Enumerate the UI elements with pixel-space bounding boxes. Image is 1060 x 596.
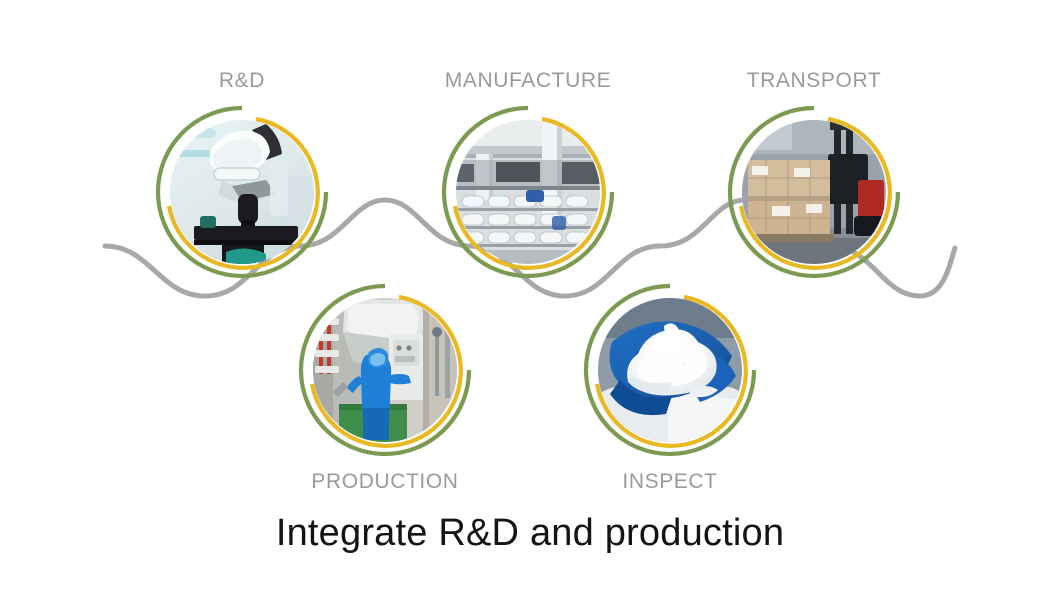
node-circle-rd[interactable] xyxy=(153,103,331,281)
node-label-manufacture: MANUFACTURE xyxy=(428,70,628,91)
node-label-rd: R&D xyxy=(142,70,342,91)
node-label-inspect: INSPECT xyxy=(570,471,770,492)
forklift-photo xyxy=(742,120,886,264)
node-manufacture[interactable]: MANUFACTURE xyxy=(428,70,628,281)
node-inspect[interactable]: INSPECT xyxy=(570,281,770,492)
node-circle-manufacture[interactable] xyxy=(439,103,617,281)
powder-photo xyxy=(598,298,742,442)
page-headline: Integrate R&D and production xyxy=(0,512,1060,556)
microscope-photo xyxy=(170,120,314,264)
node-transport[interactable]: TRANSPORT xyxy=(714,70,914,281)
node-label-production: PRODUCTION xyxy=(285,471,485,492)
factory-photo xyxy=(456,120,600,264)
node-circle-transport[interactable] xyxy=(725,103,903,281)
node-rd[interactable]: R&D xyxy=(142,70,342,281)
cleanroom-photo xyxy=(313,298,457,442)
node-circle-inspect[interactable] xyxy=(581,281,759,459)
node-label-transport: TRANSPORT xyxy=(714,70,914,91)
node-circle-production[interactable] xyxy=(296,281,474,459)
node-production[interactable]: PRODUCTION xyxy=(285,281,485,492)
infographic-canvas: R&D xyxy=(0,0,1060,596)
